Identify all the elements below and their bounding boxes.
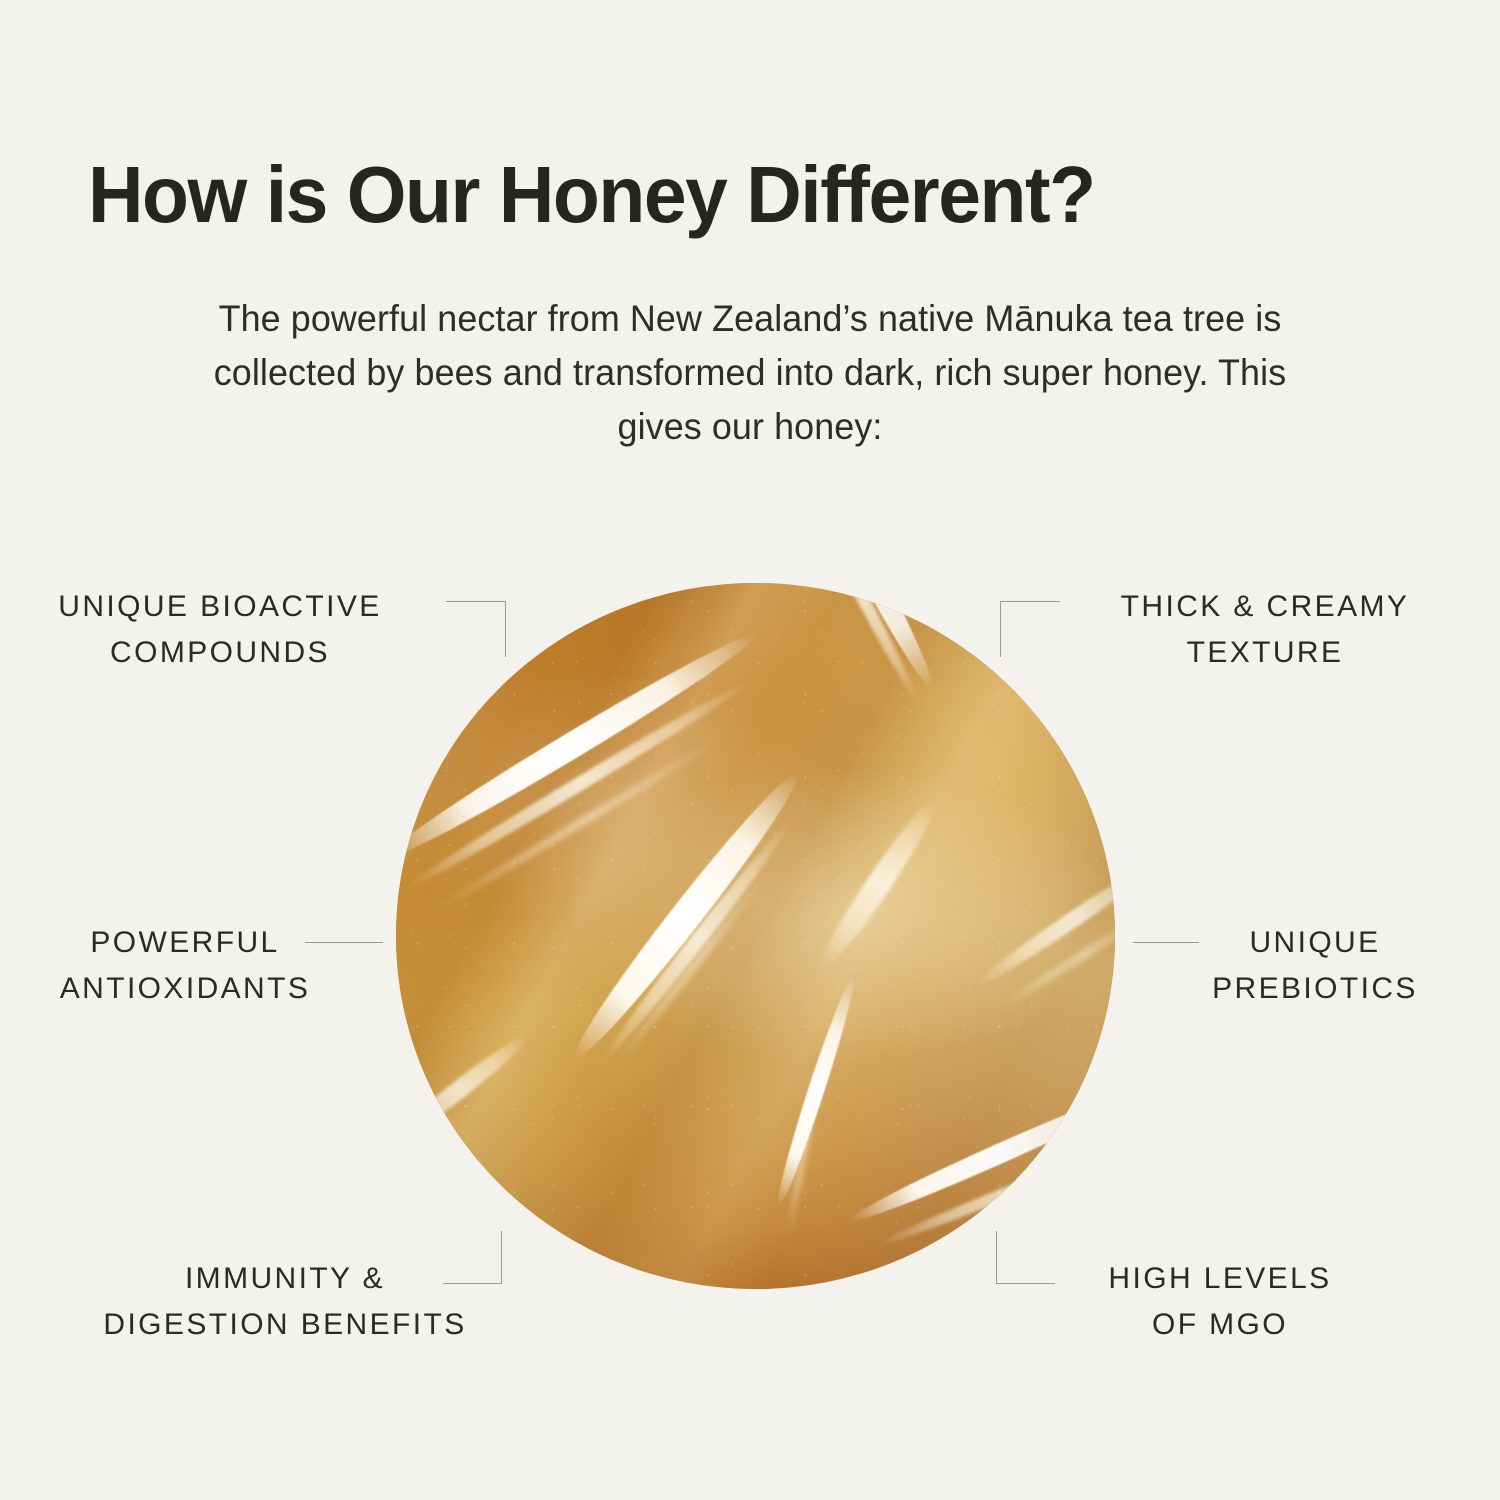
honey-texture-circle <box>396 583 1115 1289</box>
page-subtitle: The powerful nectar from New Zealand’s n… <box>168 292 1332 454</box>
connector-line-immunity <box>501 1231 502 1284</box>
callout-label-thick-creamy-texture: THICK & CREAMY TEXTURE <box>1065 584 1465 676</box>
honey-vignette <box>396 583 1115 1289</box>
honey-infographic: How is Our Honey Different? The powerful… <box>0 0 1500 1500</box>
page-title: How is Our Honey Different? <box>88 148 1374 242</box>
callout-label-high-levels-of-mgo: HIGH LEVELS OF MGO <box>1030 1256 1410 1348</box>
callout-label-immunity-digestion: IMMUNITY & DIGESTION BENEFITS <box>75 1256 495 1348</box>
connector-line-thick <box>1000 601 1001 657</box>
connector-line-thick <box>1000 601 1060 602</box>
callout-label-powerful-antioxidants: POWERFUL ANTIOXIDANTS <box>20 920 350 1012</box>
callout-label-unique-prebiotics: UNIQUE PREBIOTICS <box>1150 920 1480 1012</box>
callout-label-bioactive: UNIQUE BIOACTIVE COMPOUNDS <box>20 584 420 676</box>
connector-line-mgo <box>996 1231 997 1284</box>
connector-line-bioactive <box>446 601 506 602</box>
connector-line-bioactive <box>505 601 506 657</box>
